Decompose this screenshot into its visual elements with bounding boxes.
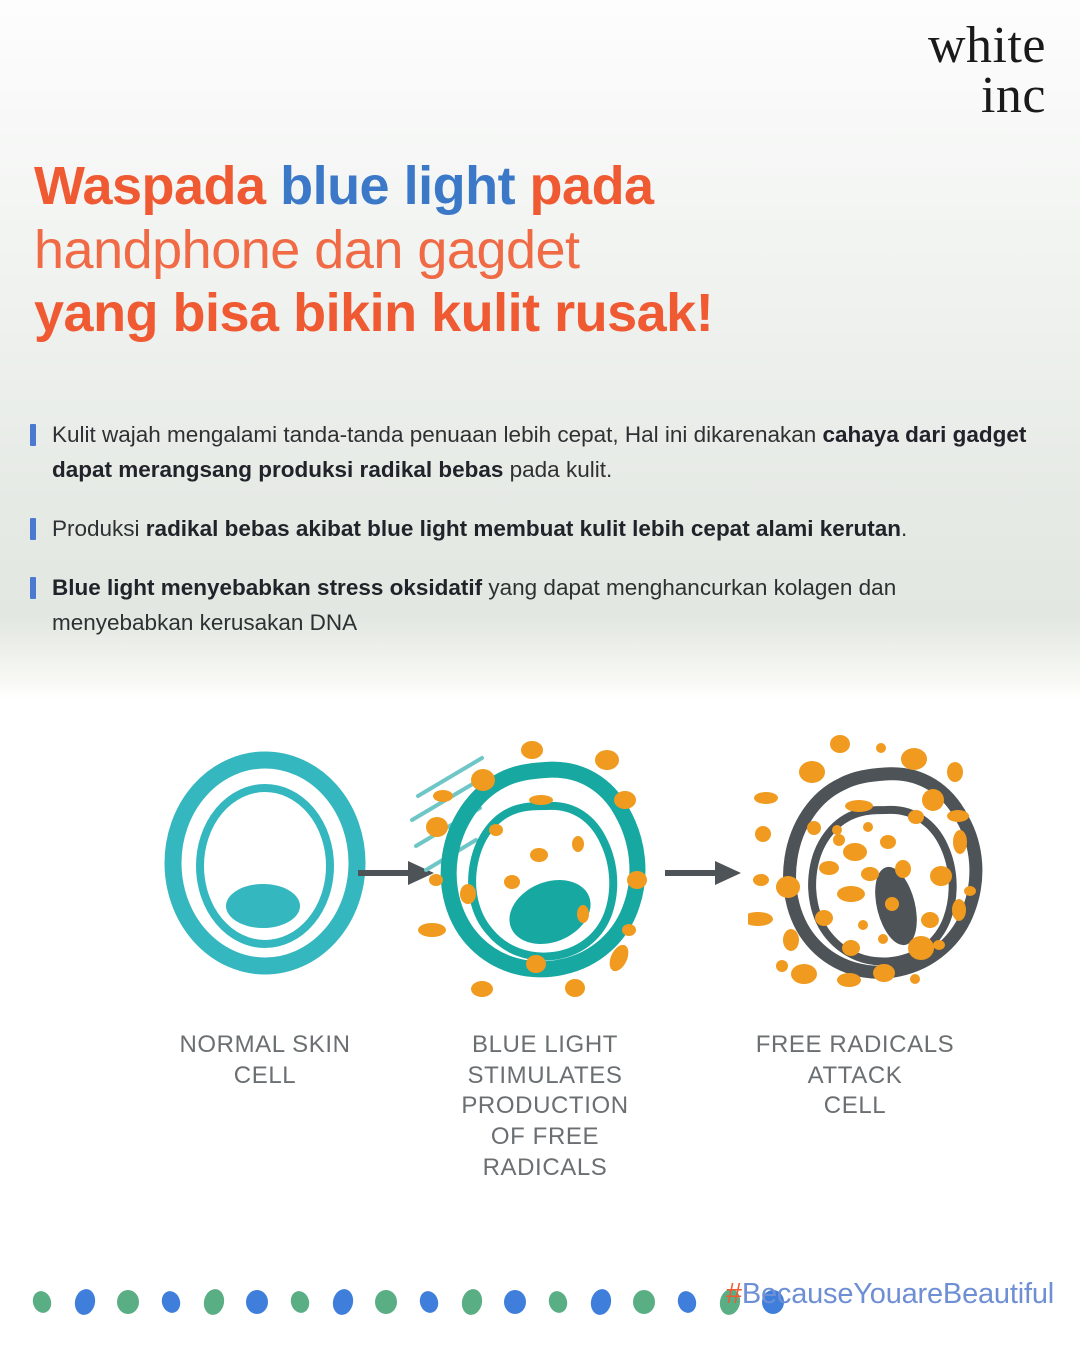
cell-damage-diagram: NORMAL SKIN CELL BLUE LIGHT STIMULATES P… xyxy=(0,700,1080,1260)
hashtag-text: BecauseYouareBeautiful xyxy=(742,1278,1054,1310)
bullet-item-1: Kulit wajah mengalami tanda-tanda penuaa… xyxy=(30,418,1040,488)
footer-hashtag: #BecauseYouareBeautiful xyxy=(726,1278,1054,1311)
footer-dot xyxy=(202,1287,227,1317)
bullet-list: Kulit wajah mengalami tanda-tanda penuaa… xyxy=(30,418,1040,640)
footer-dot xyxy=(117,1290,139,1314)
footer-dot xyxy=(589,1287,614,1317)
headline-line-2: handphone dan gagdet xyxy=(34,219,794,283)
cell-nucleus xyxy=(226,884,300,928)
brand-logo-line2: inc xyxy=(928,72,1046,120)
stage-3-attacked-cell-illustration xyxy=(748,734,1018,1009)
bullet-marker-icon xyxy=(30,577,36,599)
footer: #BecauseYouareBeautiful xyxy=(0,1260,1080,1350)
headline: Waspada blue light pada handphone dan ga… xyxy=(34,155,794,346)
stage-1-normal-cell-illustration xyxy=(150,748,380,983)
stage-3-caption: FREE RADICALS ATTACK CELL xyxy=(710,1030,1000,1122)
bullet-item-2: Produksi radikal bebas akibat blue light… xyxy=(30,512,1040,547)
bullet-2-seg3: . xyxy=(901,516,907,541)
stage-2-caption: BLUE LIGHT STIMULATES PRODUCTION OF FREE… xyxy=(400,1030,690,1184)
decorative-dot-row xyxy=(30,1282,820,1327)
brand-logo-line1: white xyxy=(928,22,1046,70)
bullet-1-seg3: pada kulit. xyxy=(503,457,612,482)
stage-2-stimulated-cell-illustration xyxy=(410,734,680,1009)
stage-1-caption: NORMAL SKIN CELL xyxy=(110,1030,420,1091)
headline-waspada: Waspada xyxy=(34,156,280,216)
bullet-marker-icon xyxy=(30,424,36,446)
footer-dot xyxy=(675,1289,699,1315)
headline-line-1: Waspada blue light pada xyxy=(34,155,794,219)
footer-dot xyxy=(159,1289,183,1315)
footer-dot xyxy=(460,1287,485,1317)
bullet-3-seg2: Blue light menyebabkan stress oksidatif xyxy=(52,575,482,600)
footer-dot xyxy=(375,1290,397,1314)
bullet-item-3: Blue light menyebabkan stress oksidatif … xyxy=(30,571,1040,641)
bullet-2-seg2: radikal bebas akibat blue light membuat … xyxy=(146,516,901,541)
brand-logo: white inc xyxy=(928,22,1046,120)
headline-blue-light: blue light xyxy=(280,156,515,216)
footer-dot xyxy=(246,1290,268,1314)
footer-dot xyxy=(331,1287,356,1317)
hash-symbol: # xyxy=(726,1278,742,1310)
footer-dot xyxy=(417,1289,441,1315)
bullet-marker-icon xyxy=(30,518,36,540)
footer-dot xyxy=(633,1290,655,1314)
infographic-poster: white inc Waspada blue light pada handph… xyxy=(0,0,1080,1350)
arrow-stage-2-to-3-icon xyxy=(665,858,743,893)
footer-dot xyxy=(73,1287,98,1317)
footer-dot xyxy=(504,1290,526,1314)
headline-pada: pada xyxy=(515,156,654,216)
bullet-2-seg1: Produksi xyxy=(52,516,146,541)
footer-dot xyxy=(288,1289,312,1315)
footer-dot xyxy=(546,1289,570,1315)
headline-line-3: yang bisa bikin kulit rusak! xyxy=(34,282,794,346)
footer-dot xyxy=(30,1289,54,1315)
bullet-1-seg1: Kulit wajah mengalami tanda-tanda penuaa… xyxy=(52,422,823,447)
